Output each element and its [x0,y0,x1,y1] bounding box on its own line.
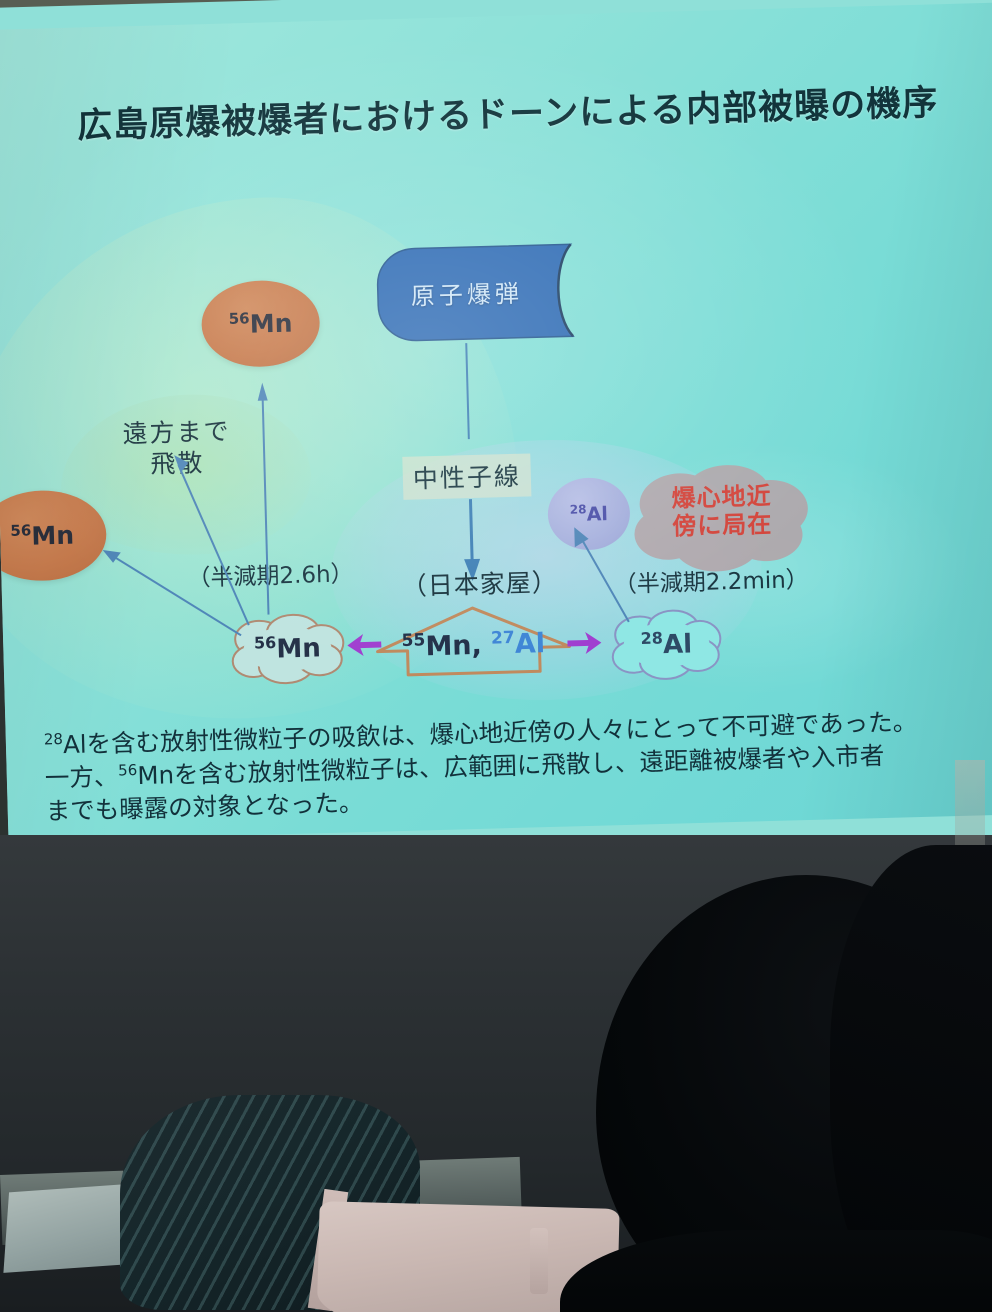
purple-arrow-left-icon [347,632,382,659]
al28-circle-label: 28Al [548,501,631,527]
far-scatter-text: 遠方まで 飛散 [71,414,283,482]
al28-product-cloud-label: 28Al [607,627,726,662]
al28-product-cloud: 28Al [606,606,726,683]
projection-screen: 広島原爆被爆者におけるドーンによる内部被曝の機序 原子爆弾 中性子線 [0,0,992,868]
japanese-house-label: （日本家屋） [401,563,558,603]
bag-tab [530,1228,548,1294]
mn56-ellipse-top-label: 56Mn [201,307,320,340]
far-scatter-line-2: 飛散 [72,445,283,482]
halflife-al-label: （半減期2.2min） [613,560,809,599]
house-formula: 55Mn, 27Al [373,626,574,663]
neutron-beam-label: 中性子線 [402,453,531,499]
localized-cloud-text: 爆心地近 傍に局在 [627,482,816,543]
slide-canvas: 広島原爆被爆者におけるドーンによる内部被曝の機序 原子爆弾 中性子線 [0,2,992,841]
atomic-bomb-banner: 原子爆弾 [375,242,593,344]
mn56-product-cloud: 56Mn [226,610,348,687]
halflife-mn-label: （半減期2.6h） [187,554,354,592]
house-formula-al: 27Al [491,628,546,660]
purple-arrow-right-icon [567,630,602,657]
atomic-bomb-label: 原子爆弾 [375,273,558,313]
localized-cloud: 爆心地近 傍に局在 [627,460,818,577]
slide-caption: 28Alを含む放射性微粒子の吸飲は、爆心地近傍の人々にとって不可避であった。 一… [44,704,956,828]
mn56-ellipse-left-label: 56Mn [0,519,107,552]
localized-line-2: 傍に局在 [628,510,817,543]
lecture-room-photo: 広島原爆被爆者におけるドーンによる内部被曝の機序 原子爆弾 中性子線 [0,0,992,1312]
house-formula-mn: 55Mn, [401,630,482,663]
mn56-product-cloud-label: 56Mn [227,631,348,666]
slide-title: 広島原爆被爆者におけるドーンによる内部被曝の機序 [76,74,957,149]
